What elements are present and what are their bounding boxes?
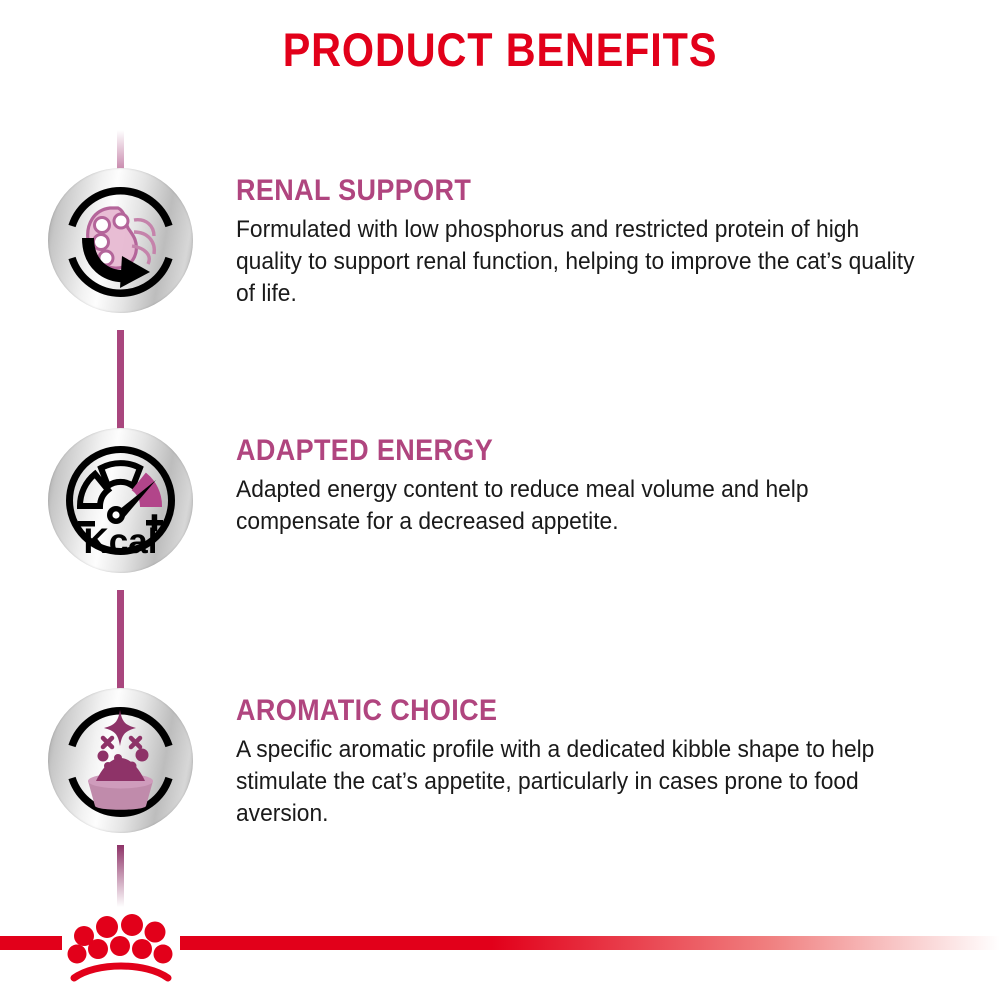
crown-icon: [62, 900, 182, 985]
spine-segment-between-2-3: [117, 590, 124, 695]
page-title: PRODUCT BENEFITS: [60, 22, 940, 77]
benefit-body-adapted-energy: Adapted energy content to reduce meal vo…: [236, 474, 929, 538]
royal-canin-crown-logo: [62, 900, 182, 985]
kcal-label: Kcal: [84, 522, 158, 561]
kidney-renal-icon: [48, 168, 193, 313]
footer-rule-right: [180, 936, 1000, 950]
benefit-body-aromatic-choice: A specific aromatic profile with a dedic…: [236, 734, 929, 830]
benefit-text-aromatic-choice: AROMATIC CHOICE A specific aromatic prof…: [236, 694, 981, 830]
medallion-aromatic-choice: [48, 688, 193, 833]
footer-rule-left: [0, 936, 62, 950]
benefit-title-adapted-energy: ADAPTED ENERGY: [236, 434, 907, 468]
benefit-body-renal-support: Formulated with low phosphorus and restr…: [236, 214, 929, 310]
spine-segment-bottom: [117, 845, 124, 907]
benefit-title-renal-support: RENAL SUPPORT: [236, 174, 907, 208]
benefit-title-aromatic-choice: AROMATIC CHOICE: [236, 694, 907, 728]
medallion-renal-support: [48, 168, 193, 313]
medallion-adapted-energy: Kcal: [48, 428, 193, 573]
benefit-text-adapted-energy: ADAPTED ENERGY Adapted energy content to…: [236, 434, 981, 538]
aromatic-food-bowl-icon: [48, 688, 193, 833]
benefit-text-renal-support: RENAL SUPPORT Formulated with low phosph…: [236, 174, 981, 310]
spine-segment-between-1-2: [117, 330, 124, 435]
kcal-gauge-icon: Kcal: [48, 428, 193, 573]
